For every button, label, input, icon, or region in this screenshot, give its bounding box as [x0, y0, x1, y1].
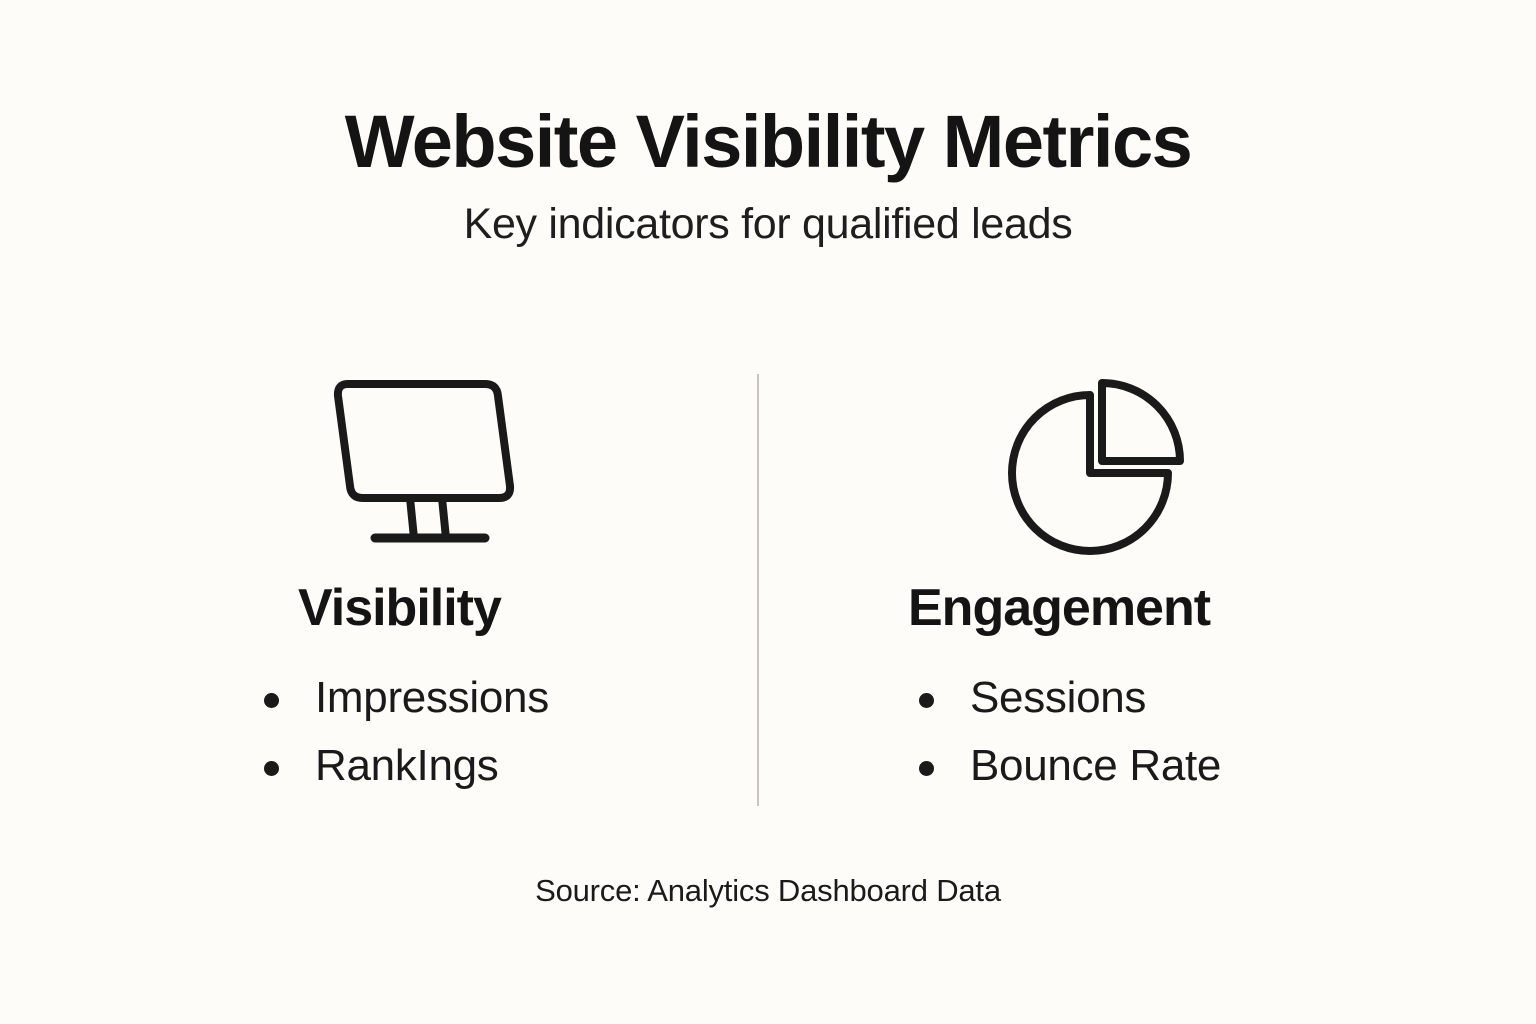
list-item: Sessions	[918, 676, 1221, 720]
page-subtitle: Key indicators for qualified leads	[0, 201, 1536, 248]
list-item-label: Bounce Rate	[970, 741, 1221, 790]
infographic-canvas: Website Visibility Metrics Key indicator…	[0, 0, 1536, 1024]
header: Website Visibility Metrics Key indicator…	[0, 104, 1536, 249]
list-item-label: Impressions	[315, 673, 549, 722]
list-item-label: RankIngs	[315, 741, 498, 790]
list-item: Impressions	[263, 676, 549, 720]
bullet-dot-icon	[919, 693, 934, 708]
list-item: Bounce Rate	[918, 744, 1221, 788]
page-title: Website Visibility Metrics	[0, 104, 1536, 179]
bullet-list-visibility: Impressions RankIngs	[263, 676, 549, 788]
bullet-dot-icon	[264, 693, 279, 708]
monitor-icon	[294, 368, 524, 558]
bullet-dot-icon	[264, 761, 279, 776]
pie-chart-icon	[985, 368, 1215, 558]
list-item: RankIngs	[263, 744, 549, 788]
column-engagement: Engagement Sessions Bounce Rate	[790, 360, 1490, 830]
columns-container: Visibility Impressions RankIngs	[0, 360, 1536, 830]
column-heading-visibility: Visibility	[298, 582, 501, 634]
column-heading-engagement: Engagement	[908, 582, 1210, 634]
bullet-dot-icon	[919, 761, 934, 776]
source-caption: Source: Analytics Dashboard Data	[0, 873, 1536, 909]
column-visibility: Visibility Impressions RankIngs	[46, 360, 746, 830]
bullet-list-engagement: Sessions Bounce Rate	[918, 676, 1221, 788]
list-item-label: Sessions	[970, 673, 1146, 722]
